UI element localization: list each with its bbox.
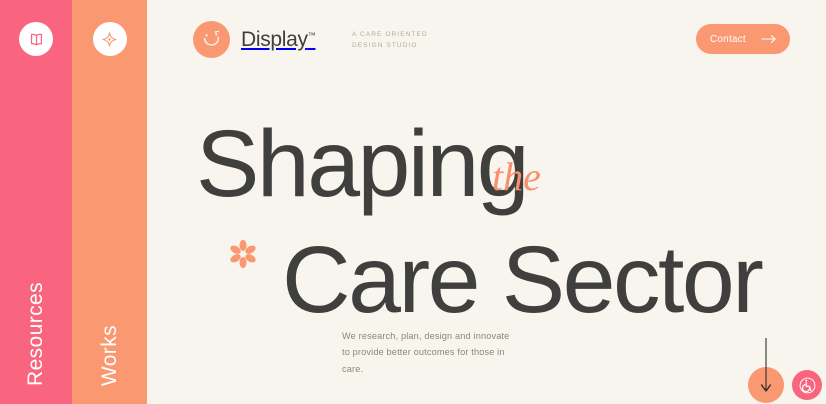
logo-wordmark: Display™ [241, 28, 315, 52]
contact-button[interactable]: Contact [696, 24, 790, 54]
contact-button-label: Contact [710, 34, 746, 45]
arrow-down-icon [759, 338, 773, 394]
hero-section: Shaping the Care Sector We research, pla… [147, 78, 826, 404]
landing-page: Resources Works Display™ A CA [0, 0, 826, 404]
sidebar-rail-resources-label: Resources [24, 282, 48, 386]
page-title-accent-word: the [492, 153, 541, 200]
sidebar-rail-works[interactable]: Works [72, 0, 147, 404]
wheelchair-accessibility-icon [798, 376, 817, 395]
trademark-symbol: ™ [308, 31, 316, 40]
flower-asterisk-glyph [227, 238, 259, 270]
smiley-face-icon [193, 21, 230, 58]
flower-asterisk-icon [227, 238, 259, 270]
site-header: Display™ A CARE ORIENTED DESIGN STUDIO C… [147, 0, 826, 78]
sidebar-rail-works-label: Works [98, 325, 122, 386]
arrow-right-icon [761, 34, 777, 44]
accessibility-widget-button[interactable] [792, 370, 822, 400]
page-title-line-1: Shaping [196, 110, 527, 219]
sparkle-icon [101, 31, 118, 48]
sidebar-rail-resources[interactable]: Resources [0, 0, 72, 404]
page-title-line-2: Care Sector [282, 226, 761, 335]
studio-tagline: A CARE ORIENTED DESIGN STUDIO [352, 29, 428, 52]
hero-subcopy: We research, plan, design and innovate t… [342, 328, 520, 377]
studio-tagline-line2: DESIGN STUDIO [352, 40, 428, 51]
logo-wordmark-text: Display [241, 28, 308, 51]
book-icon [28, 31, 45, 48]
logo-home-link[interactable]: Display™ [193, 21, 315, 58]
smiley-face-glyph [193, 21, 230, 58]
scroll-down-cue[interactable] [748, 333, 784, 403]
book-icon-wrapper[interactable] [19, 22, 53, 56]
studio-tagline-line1: A CARE ORIENTED [352, 29, 428, 40]
sparkle-icon-wrapper[interactable] [93, 22, 127, 56]
